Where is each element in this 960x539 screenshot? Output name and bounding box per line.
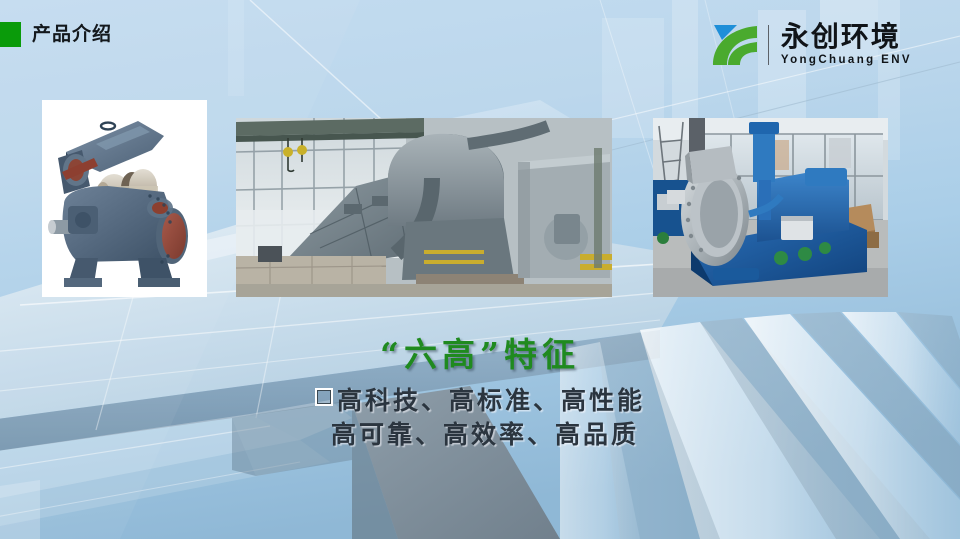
title-marker-square <box>0 22 21 47</box>
slide-title-block: 产品介绍 <box>0 22 112 47</box>
presentation-slide: 产品介绍 永创环境 YongChuang ENV <box>0 0 960 539</box>
photo-industrial-blower-factory <box>236 118 612 297</box>
company-logo: 永创环境 YongChuang ENV <box>707 22 912 68</box>
logo-divider <box>768 25 769 65</box>
feature-text-1: 高科技、高标准、高性能 <box>337 386 645 415</box>
photo-blue-pump-workshop <box>653 118 888 297</box>
logo-chinese-name: 永创环境 <box>781 23 912 51</box>
feature-text-2: 高可靠、高效率、高品质 <box>331 420 639 449</box>
slide-headline: “六高”特征 <box>0 328 960 376</box>
page-title: 产品介绍 <box>32 25 112 44</box>
square-bullet-icon <box>315 388 333 406</box>
logo-english-name: YongChuang ENV <box>781 55 912 67</box>
logo-wordmark: 永创环境 YongChuang ENV <box>781 23 912 67</box>
feature-list: 高科技、高标准、高性能 高可靠、高效率、高品质 <box>0 384 960 452</box>
feature-line-2: 高可靠、高效率、高品质 <box>0 418 960 452</box>
feature-line-1: 高科技、高标准、高性能 <box>0 384 960 418</box>
yongchuang-swoosh-icon <box>707 22 759 68</box>
photo-split-case-pump-cutaway <box>42 100 207 297</box>
